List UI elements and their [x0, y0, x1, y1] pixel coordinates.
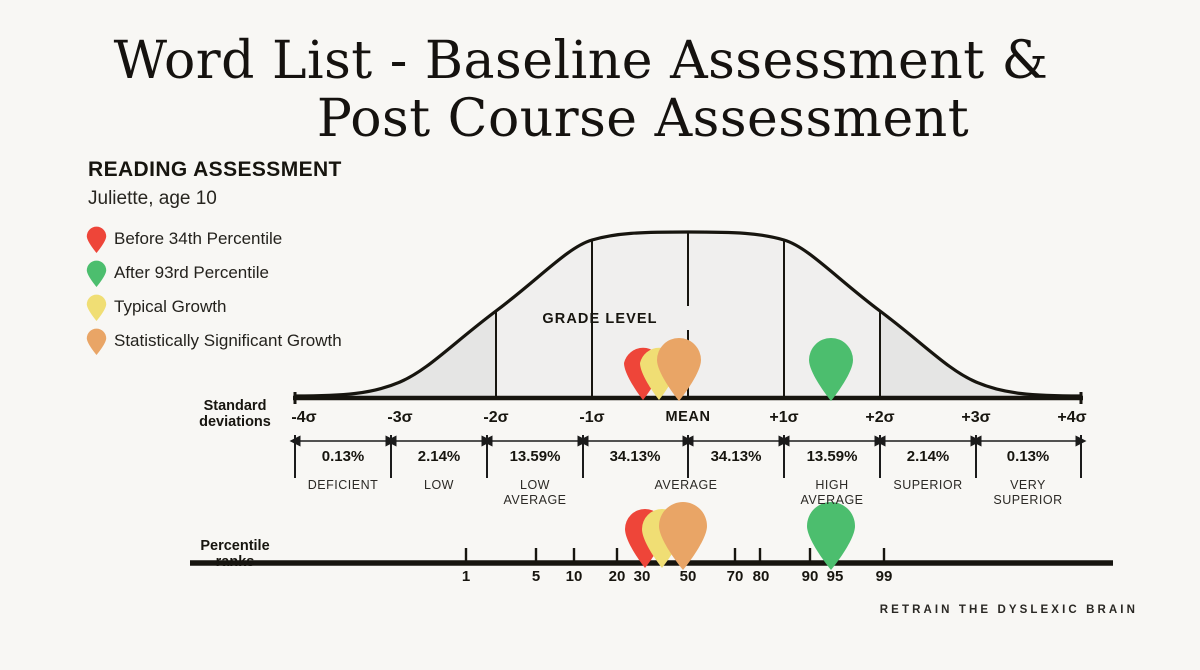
band-percent-7: 0.13% — [1007, 448, 1050, 465]
percentile-tick-30: 30 — [634, 568, 651, 585]
band-label-superior: SUPERIOR — [893, 478, 962, 493]
percentile-tick-80: 80 — [753, 568, 770, 585]
marker-after-percentile — [807, 502, 855, 570]
percentile-markers — [625, 502, 855, 570]
caption-line-2: deviations — [190, 414, 280, 430]
band-percent-5: 13.59% — [807, 448, 858, 465]
percentile-tick-90: 90 — [802, 568, 819, 585]
percentile-tick-99: 99 — [876, 568, 893, 585]
sd-tick-label-+4sd: +4σ — [1057, 409, 1086, 427]
band-label-low-average: LOW AVERAGE — [503, 478, 566, 508]
caption-line-1: Standard — [190, 398, 280, 414]
percentile-ranks-caption: Percentile ranks — [190, 538, 280, 570]
bell-curve-chart: GRADE LEVEL Standard deviations Percenti… — [0, 0, 1200, 670]
band-label-very-superior: VERY SUPERIOR — [993, 478, 1062, 508]
sd-tick-label-+3sd: +3σ — [961, 409, 990, 427]
band-percent-0: 0.13% — [322, 448, 365, 465]
percentile-tick-50: 50 — [680, 568, 697, 585]
poster-canvas: Word List - Baseline Assessment & Post C… — [0, 0, 1200, 670]
percentile-tick-70: 70 — [727, 568, 744, 585]
band-percent-3: 34.13% — [610, 448, 661, 465]
percentile-tick-1: 1 — [462, 568, 470, 585]
band-percent-4: 34.13% — [711, 448, 762, 465]
sd-tick-label-+1sd: +1σ — [769, 409, 798, 427]
chart-svg — [0, 0, 1200, 670]
sd-tick-label--4sd: -4σ — [291, 409, 316, 427]
caption-line-1: Percentile — [190, 538, 280, 554]
band-percent-1: 2.14% — [418, 448, 461, 465]
caption-line-2: ranks — [190, 554, 280, 570]
percentile-tick-20: 20 — [609, 568, 626, 585]
band-label-deficient: DEFICIENT — [308, 478, 378, 493]
band-percent-6: 2.14% — [907, 448, 950, 465]
sd-tick-label--1sd: -1σ — [579, 409, 604, 427]
band-label-low: LOW — [424, 478, 454, 493]
band-label-average: AVERAGE — [654, 478, 717, 493]
band-label-high-average: HIGH AVERAGE — [800, 478, 863, 508]
sd-tick-label--3sd: -3σ — [387, 409, 412, 427]
standard-deviations-caption: Standard deviations — [190, 398, 280, 430]
band-percent-2: 13.59% — [510, 448, 561, 465]
percentile-tick-10: 10 — [566, 568, 583, 585]
percentile-tick-95: 95 — [827, 568, 844, 585]
brand-footer: RETRAIN THE DYSLEXIC BRAIN — [880, 604, 1138, 616]
sd-tick-label-mean: MEAN — [665, 409, 710, 425]
percentile-tick-5: 5 — [532, 568, 540, 585]
sd-tick-label--2sd: -2σ — [483, 409, 508, 427]
sd-tick-label-+2sd: +2σ — [865, 409, 894, 427]
